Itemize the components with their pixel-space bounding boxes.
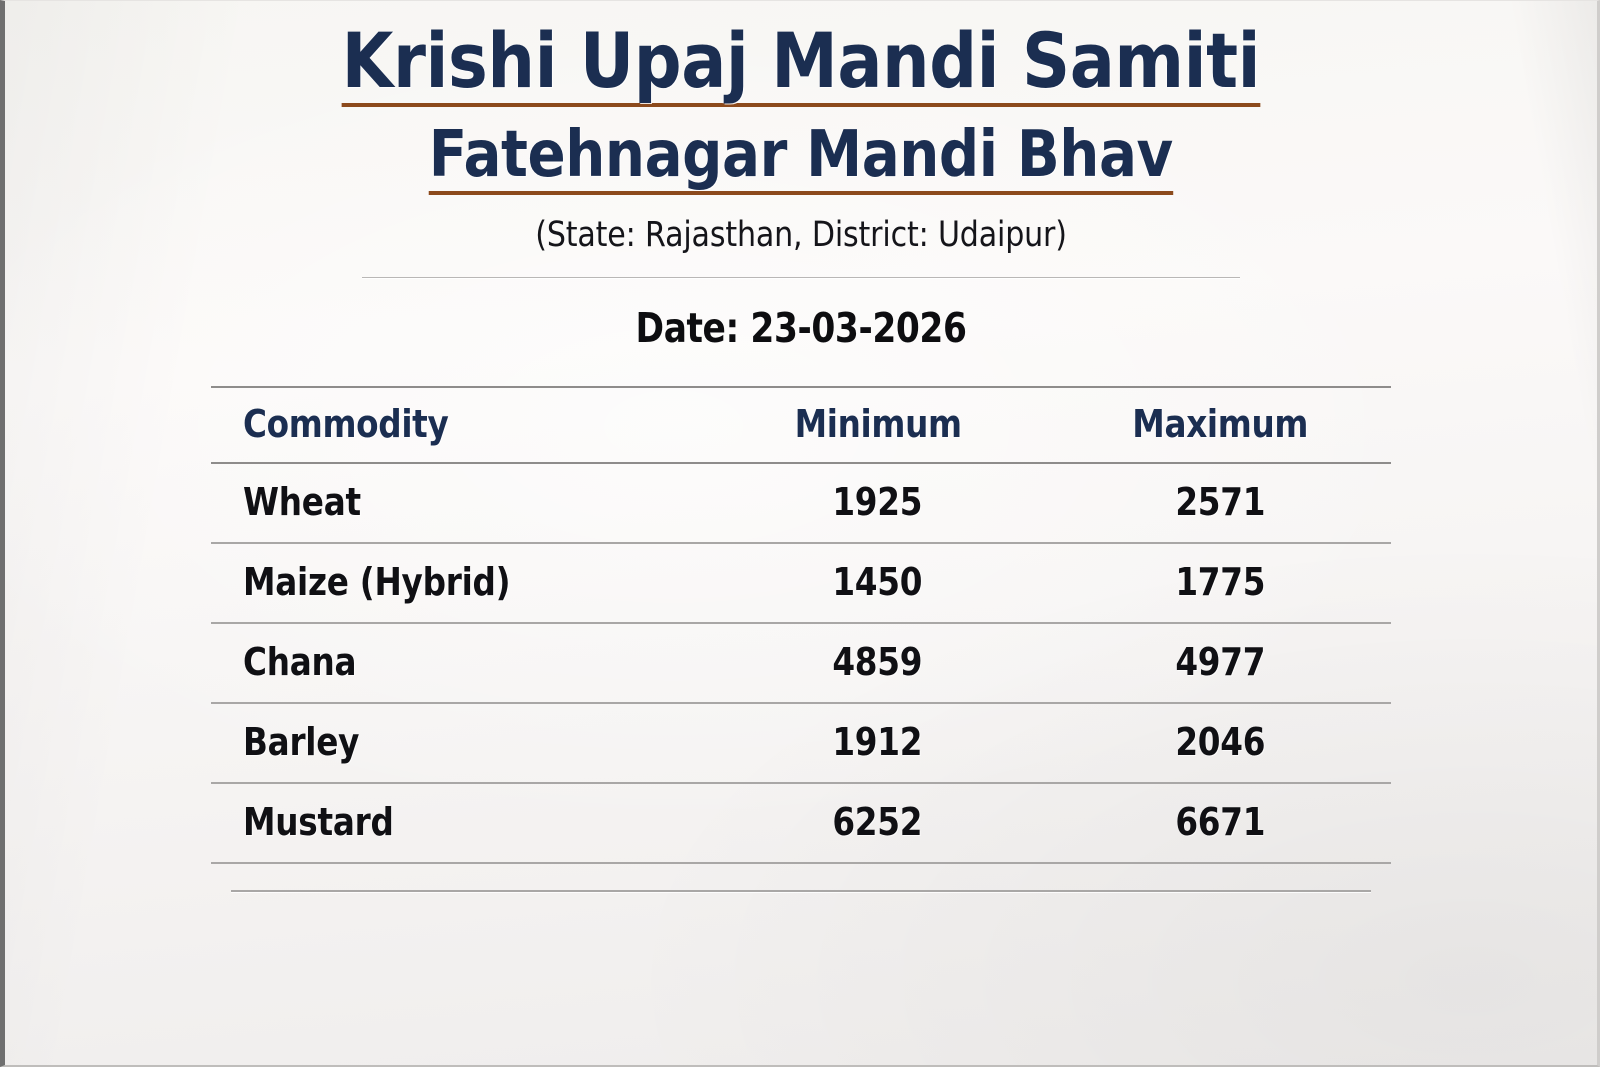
column-header-minimum: Minimum — [707, 387, 1049, 463]
table-row: Chana 4859 4977 — [211, 623, 1391, 703]
cell-commodity: Chana — [211, 623, 707, 703]
cell-minimum: 1450 — [707, 543, 1049, 623]
table-row: Barley 1912 2046 — [211, 703, 1391, 783]
cell-commodity: Maize (Hybrid) — [211, 543, 707, 623]
table-row: Mustard 6252 6671 — [211, 783, 1391, 863]
cell-commodity: Mustard — [211, 783, 707, 863]
date-label-text: Date: 23-03-2026 — [635, 304, 966, 352]
price-table-header: Commodity Minimum Maximum — [211, 387, 1391, 463]
page-title-line-1: Krishi Upaj Mandi Samiti — [342, 23, 1261, 107]
cell-minimum: 1925 — [707, 463, 1049, 543]
cell-commodity: Barley — [211, 703, 707, 783]
location-subtitle: (State: Rajasthan, District: Udaipur) — [5, 215, 1597, 255]
cell-minimum: 6252 — [707, 783, 1049, 863]
mandi-price-board: Krishi Upaj Mandi Samiti Fatehnagar Mand… — [0, 0, 1600, 1067]
cell-maximum: 2046 — [1049, 703, 1391, 783]
column-header-maximum: Maximum — [1049, 387, 1391, 463]
cell-commodity: Wheat — [211, 463, 707, 543]
cell-maximum: 2571 — [1049, 463, 1391, 543]
column-header-commodity: Commodity — [211, 387, 707, 463]
table-row: Maize (Hybrid) 1450 1775 — [211, 543, 1391, 623]
price-table-container: Commodity Minimum Maximum Wheat 1925 257… — [211, 386, 1391, 892]
board-header: Krishi Upaj Mandi Samiti Fatehnagar Mand… — [5, 1, 1597, 195]
table-row: Wheat 1925 2571 — [211, 463, 1391, 543]
date-label: Date: 23-03-2026 — [5, 304, 1597, 352]
cell-minimum: 4859 — [707, 623, 1049, 703]
table-bottom-rule — [231, 890, 1371, 892]
cell-maximum: 6671 — [1049, 783, 1391, 863]
cell-maximum: 1775 — [1049, 543, 1391, 623]
cell-minimum: 1912 — [707, 703, 1049, 783]
page-title-line-2: Fatehnagar Mandi Bhav — [429, 123, 1173, 195]
location-subtitle-text: (State: Rajasthan, District: Udaipur) — [535, 215, 1067, 255]
header-divider — [362, 277, 1240, 278]
cell-maximum: 4977 — [1049, 623, 1391, 703]
price-table-body: Wheat 1925 2571 Maize (Hybrid) 1450 1775… — [211, 463, 1391, 863]
table-header-row: Commodity Minimum Maximum — [211, 387, 1391, 463]
price-table: Commodity Minimum Maximum Wheat 1925 257… — [211, 386, 1391, 864]
